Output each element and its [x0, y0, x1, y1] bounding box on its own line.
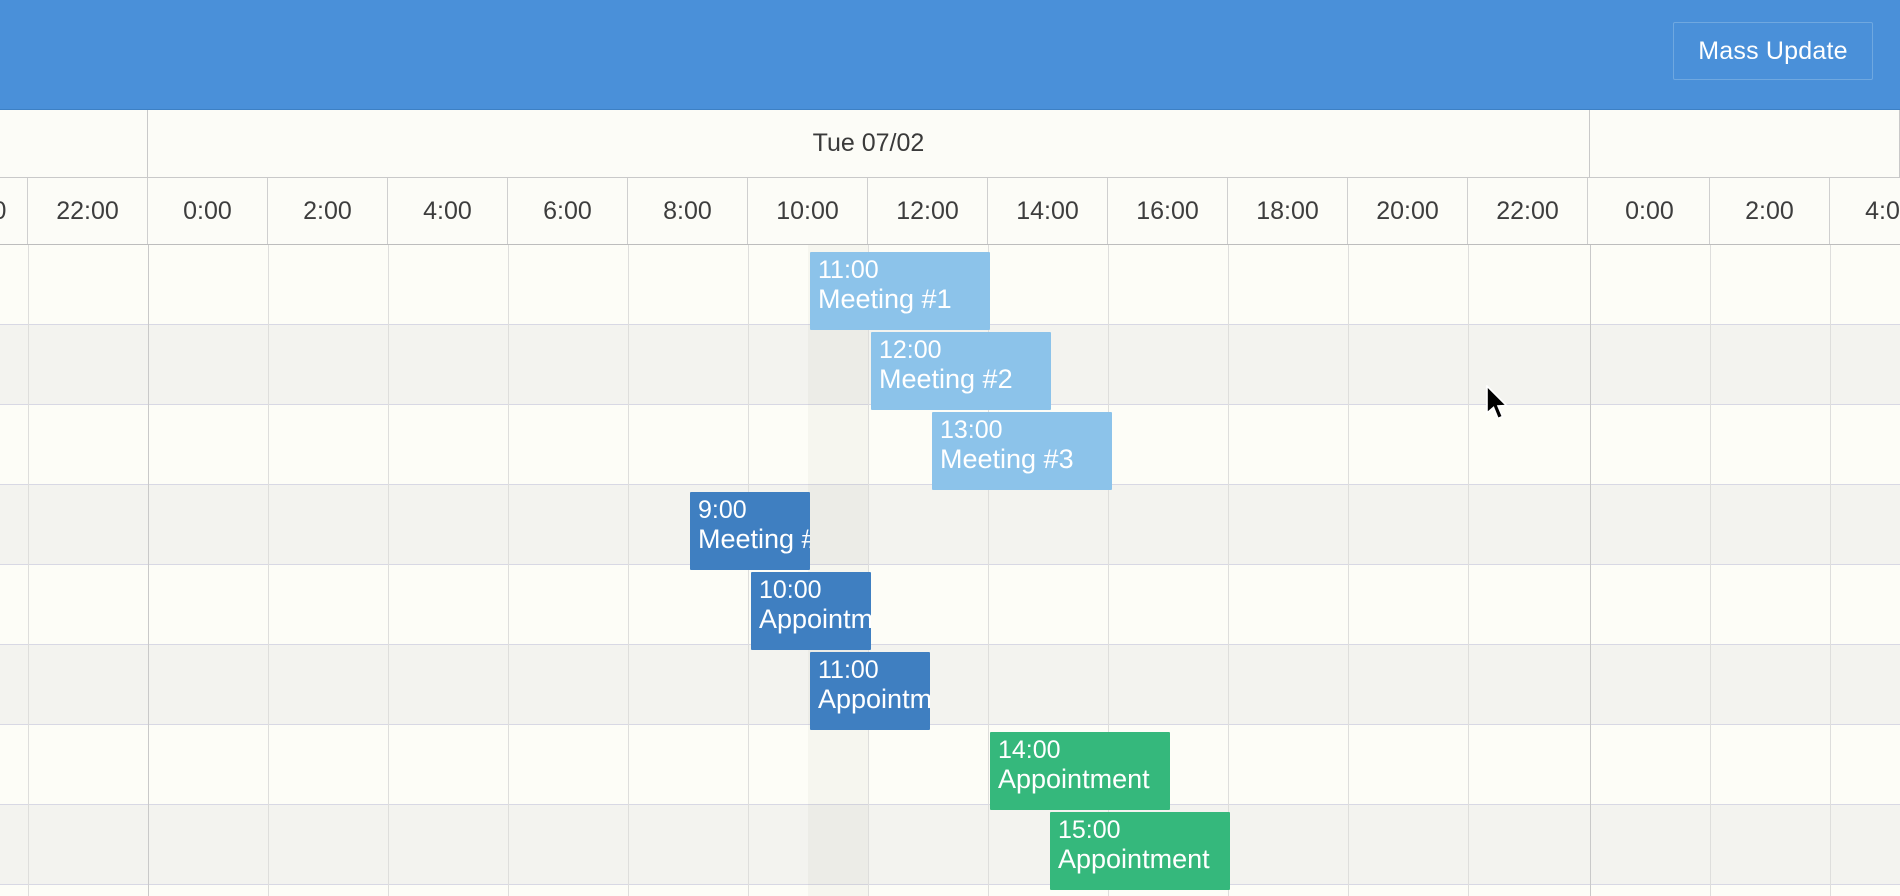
grid-column-line	[268, 245, 269, 896]
grid-column-line	[1228, 245, 1229, 896]
grid-column-line	[868, 245, 869, 896]
time-header-cell: 8:00	[628, 178, 748, 244]
time-header-cell: 20:00	[1348, 178, 1468, 244]
event-block[interactable]: 9:00Meeting #4	[690, 492, 810, 570]
timeline-row[interactable]	[0, 885, 1900, 896]
grid-column-line	[748, 245, 749, 896]
grid-column-line	[1710, 245, 1711, 896]
timeline-row[interactable]	[0, 485, 1900, 565]
time-header-cell: 2:00	[1710, 178, 1830, 244]
event-block[interactable]: 15:00Appointment	[1050, 812, 1230, 890]
grid-column-line	[508, 245, 509, 896]
day-header-cell-empty	[0, 110, 148, 177]
event-title: Meeting #2	[879, 364, 1051, 394]
time-header-cell: 0:00	[1590, 178, 1710, 244]
time-header-cell: 22:00	[28, 178, 148, 244]
event-time: 12:00	[879, 336, 1051, 364]
time-header-cell: 4:00	[388, 178, 508, 244]
timeline-body[interactable]: 11:00Meeting #112:00Meeting #213:00Meeti…	[0, 245, 1900, 896]
event-time: 13:00	[940, 416, 1112, 444]
event-time: 10:00	[759, 576, 871, 604]
event-title: Meeting #1	[818, 284, 990, 314]
time-header-cell: 18:00	[1228, 178, 1348, 244]
event-title: Appointment	[759, 604, 871, 634]
time-header-cell: 12:00	[868, 178, 988, 244]
time-header-cell: 10:00	[748, 178, 868, 244]
scheduler-app: Mass Update Tue 07/02 022:000:002:004:00…	[0, 0, 1900, 896]
event-time: 15:00	[1058, 816, 1230, 844]
timeline-row[interactable]	[0, 645, 1900, 725]
event-time: 11:00	[818, 656, 930, 684]
day-header-cell-empty	[1590, 110, 1900, 177]
event-time: 9:00	[698, 496, 810, 524]
toolbar: Mass Update	[0, 0, 1900, 110]
event-title: Appointment	[1058, 844, 1230, 874]
event-title: Meeting #4	[698, 524, 810, 554]
time-header-cell: 14:00	[988, 178, 1108, 244]
time-header-cell: 16:00	[1108, 178, 1228, 244]
time-header-cell: 6:00	[508, 178, 628, 244]
event-block[interactable]: 14:00Appointment	[990, 732, 1170, 810]
timeline-row[interactable]	[0, 565, 1900, 645]
event-title: Appointment	[818, 684, 930, 714]
grid-column-line	[1590, 245, 1591, 896]
event-title: Appointment	[998, 764, 1170, 794]
timeline-row[interactable]	[0, 805, 1900, 885]
event-time: 14:00	[998, 736, 1170, 764]
event-block[interactable]: 13:00Meeting #3	[932, 412, 1112, 490]
event-block[interactable]: 11:00Meeting #1	[810, 252, 990, 330]
grid-column-line	[1348, 245, 1349, 896]
time-header-cell: 22:00	[1468, 178, 1588, 244]
grid-column-line	[628, 245, 629, 896]
grid-column-line	[1468, 245, 1469, 896]
day-header-cell: Tue 07/02	[148, 110, 1590, 177]
event-time: 11:00	[818, 256, 990, 284]
event-title: Meeting #3	[940, 444, 1112, 474]
grid-column-line	[1830, 245, 1831, 896]
time-header-cell: 2:00	[268, 178, 388, 244]
grid-column-line	[148, 245, 149, 896]
event-block[interactable]: 11:00Appointment	[810, 652, 930, 730]
timeline-row[interactable]	[0, 725, 1900, 805]
time-header-cell: 0:00	[148, 178, 268, 244]
time-header-cell: 4:00	[1830, 178, 1900, 244]
event-block[interactable]: 12:00Meeting #2	[871, 332, 1051, 410]
mass-update-button[interactable]: Mass Update	[1673, 22, 1873, 80]
grid-column-line	[388, 245, 389, 896]
time-header-cell: 0	[0, 178, 28, 244]
day-header-row: Tue 07/02	[0, 110, 1900, 178]
event-block[interactable]: 10:00Appointment	[751, 572, 871, 650]
timeline-header: Tue 07/02 022:000:002:004:006:008:0010:0…	[0, 110, 1900, 245]
grid-column-line	[28, 245, 29, 896]
time-header-row: 022:000:002:004:006:008:0010:0012:0014:0…	[0, 178, 1900, 245]
